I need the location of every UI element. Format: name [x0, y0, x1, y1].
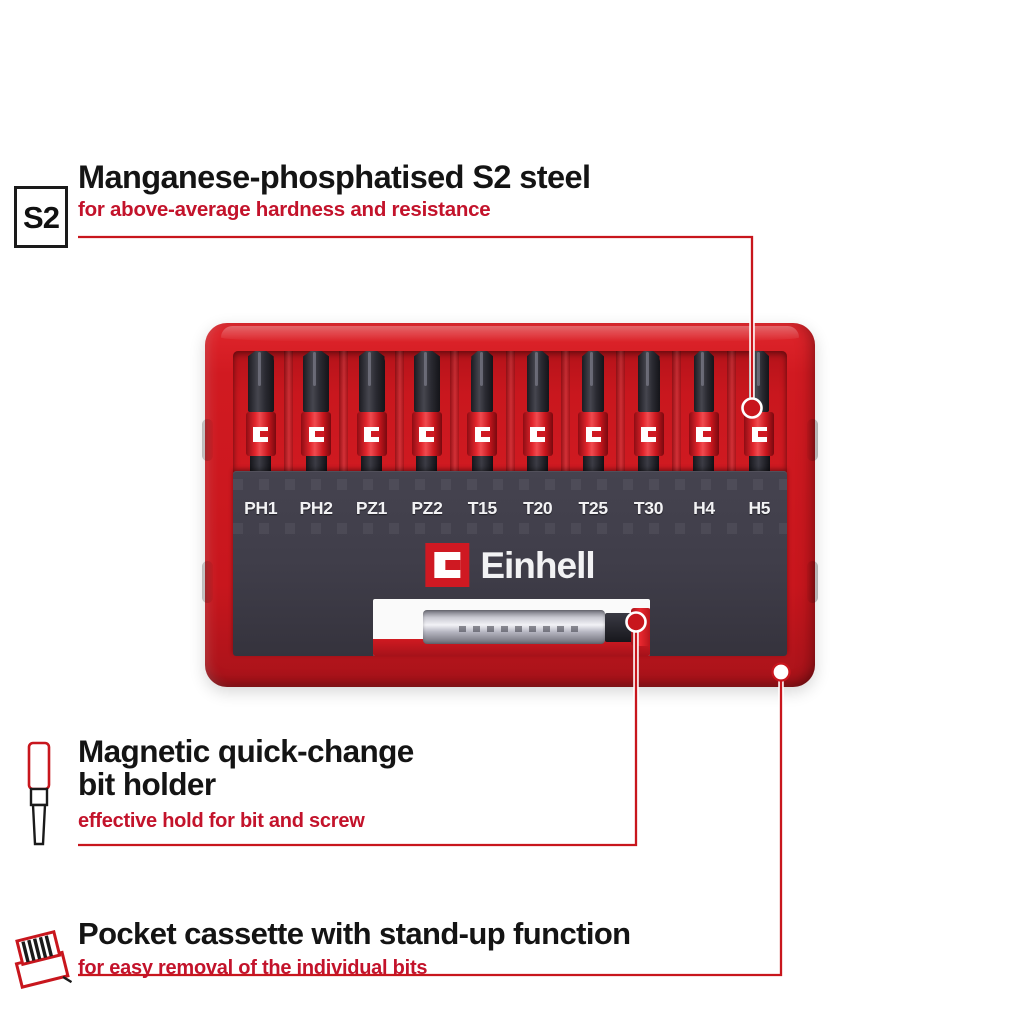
einhell-logo: Einhell — [425, 543, 594, 587]
callout-cassette-title: Pocket cassette with stand-up function — [78, 918, 631, 951]
bit-tip — [248, 356, 274, 412]
bit-bay — [233, 351, 787, 476]
bay-divider-rib — [672, 351, 681, 476]
einhell-badge-icon — [425, 543, 469, 587]
bit-t25 — [578, 356, 608, 476]
callout-steel-title: Manganese-phosphatised S2 steel — [78, 160, 590, 194]
bay-divider-rib — [561, 351, 570, 476]
einhell-e-mark-icon — [530, 427, 545, 442]
s2-badge-label: S2 — [23, 202, 59, 233]
bit-collar — [246, 412, 276, 456]
magnetic-bit-holder-icon — [18, 740, 60, 848]
bit-t30 — [634, 356, 664, 476]
bit-tip — [749, 356, 769, 412]
bit-tip — [694, 356, 714, 412]
bit-tip — [414, 356, 440, 412]
bit-collar — [689, 412, 719, 456]
callout-holder-title-line1: Magnetic quick-change — [78, 735, 414, 768]
bay-divider-rib — [284, 351, 293, 476]
bit-tip — [303, 356, 329, 412]
einhell-e-mark-icon — [253, 427, 268, 442]
bit-tip — [582, 356, 604, 412]
callout-steel-subtitle: for above-average hardness and resistanc… — [78, 199, 590, 222]
bit-label-pz1: PZ1 — [344, 493, 399, 523]
bit-ph2 — [301, 356, 331, 476]
bit-collar — [523, 412, 553, 456]
bay-divider-rib — [339, 351, 348, 476]
callout-holder-subtitle: effective hold for bit and screw — [78, 810, 414, 832]
einhell-e-mark-icon — [752, 427, 767, 442]
s2-steel-badge-icon: S2 — [14, 186, 68, 248]
bit-h5 — [744, 356, 774, 476]
panel-texture — [233, 523, 787, 534]
bay-divider-rib — [506, 351, 515, 476]
bit-collar — [467, 412, 497, 456]
brand-wordmark: Einhell — [480, 547, 594, 584]
bit-t15 — [467, 356, 497, 476]
bay-divider-rib — [395, 351, 404, 476]
product-image-bit-set: PH1PH2PZ1PZ2T15T20T25T30H4H5 Einhell — [205, 323, 815, 687]
infographic-canvas: PH1PH2PZ1PZ2T15T20T25T30H4H5 Einhell — [0, 0, 1024, 1024]
bit-label-pz2: PZ2 — [399, 493, 454, 523]
pocket-cassette-icon — [8, 925, 72, 993]
bit-label-h5: H5 — [732, 493, 787, 523]
case-grip-notch — [202, 419, 213, 461]
bit-tip — [471, 356, 493, 412]
case-grip-notch — [202, 561, 213, 603]
einhell-e-mark-icon — [696, 427, 711, 442]
bay-divider-rib — [727, 351, 736, 476]
bay-divider-rib — [616, 351, 625, 476]
bit-pz2 — [412, 356, 442, 476]
bit-collar — [744, 412, 774, 456]
einhell-e-mark-icon — [475, 427, 490, 442]
callout-bit-holder: Magnetic quick-change bit holder effecti… — [78, 735, 414, 832]
bit-pz1 — [357, 356, 387, 476]
bit-collar — [357, 412, 387, 456]
einhell-e-mark-icon — [364, 427, 379, 442]
front-panel: PH1PH2PZ1PZ2T15T20T25T30H4H5 Einhell — [233, 471, 787, 656]
panel-texture — [233, 479, 787, 490]
einhell-e-mark-icon — [419, 427, 434, 442]
bit-label-t15: T15 — [455, 493, 510, 523]
einhell-e-mark-icon — [309, 427, 324, 442]
callout-cassette-subtitle: for easy removal of the individual bits — [78, 957, 631, 979]
bit-label-t25: T25 — [565, 493, 620, 523]
einhell-e-mark-icon — [586, 427, 601, 442]
quick-change-sleeve — [631, 608, 650, 646]
magnetic-bit-holder-body — [423, 610, 605, 644]
bit-label-t30: T30 — [621, 493, 676, 523]
bit-t20 — [523, 356, 553, 476]
bit-holder-recess — [373, 599, 650, 656]
callout-steel: Manganese-phosphatised S2 steel for abov… — [78, 160, 590, 222]
einhell-e-mark-icon — [641, 427, 656, 442]
bit-label-t20: T20 — [510, 493, 565, 523]
callout-pocket-cassette: Pocket cassette with stand-up function f… — [78, 918, 631, 979]
callout-holder-title-line2: bit holder — [78, 768, 414, 801]
case-grip-notch — [807, 419, 818, 461]
bit-collar — [301, 412, 331, 456]
bit-collar — [578, 412, 608, 456]
bit-label-ph1: PH1 — [233, 493, 288, 523]
bit-h4 — [689, 356, 719, 476]
bit-label-row: PH1PH2PZ1PZ2T15T20T25T30H4H5 — [233, 493, 787, 523]
bit-tip — [638, 356, 660, 412]
case-grip-notch — [807, 561, 818, 603]
bay-divider-rib — [450, 351, 459, 476]
bit-tip — [359, 356, 385, 412]
bit-tip — [527, 356, 549, 412]
bit-label-ph2: PH2 — [288, 493, 343, 523]
einhell-e-mark-icon — [434, 552, 460, 578]
bit-label-h4: H4 — [676, 493, 731, 523]
bit-ph1 — [246, 356, 276, 476]
bit-collar — [634, 412, 664, 456]
bit-collar — [412, 412, 442, 456]
